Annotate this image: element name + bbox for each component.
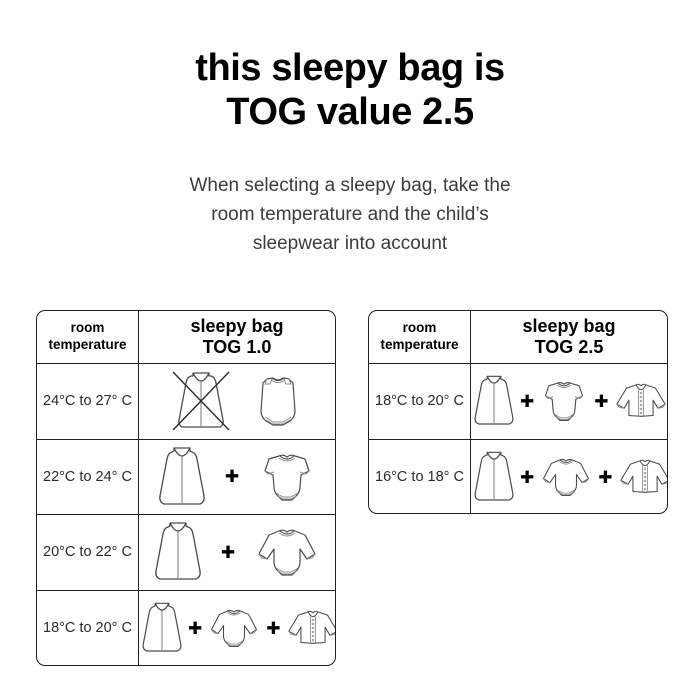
sleepy-bag-icon bbox=[139, 599, 185, 657]
sleepy-bag-icon bbox=[155, 446, 209, 508]
header-room-line-2: temperature bbox=[48, 337, 126, 354]
temperature-label: 16°C to 18° C bbox=[375, 469, 464, 485]
title-text: this sleepy bag is TOG value 2.5 bbox=[0, 46, 700, 135]
header-room-line-1: room bbox=[48, 320, 126, 337]
bodysuit-sleeveless-icon bbox=[253, 373, 303, 429]
garments-cell: ✚ ✚ bbox=[471, 364, 668, 439]
header-room-line-2: temperature bbox=[380, 337, 458, 354]
cardigan-icon bbox=[612, 376, 669, 426]
sleepy-bag-icon bbox=[471, 372, 517, 430]
garments-cell: ✚ bbox=[139, 515, 335, 590]
table-row: 24°C to 27° C bbox=[37, 364, 335, 440]
plus-icon: ✚ bbox=[266, 621, 280, 638]
header-bag-line-2: TOG 2.5 bbox=[522, 337, 615, 358]
header-cell-sleepy-bag: sleepy bag TOG 1.0 bbox=[139, 311, 335, 363]
temperature-label: 24°C to 27° C bbox=[43, 393, 132, 409]
table-row: 22°C to 24° C ✚ bbox=[37, 440, 335, 516]
sleepy-bag-icon bbox=[471, 448, 517, 506]
header-room-line-1: room bbox=[380, 320, 458, 337]
header-bag-line-1: sleepy bag bbox=[522, 316, 615, 337]
sleepy-bag-icon bbox=[151, 521, 205, 583]
temperature-cell: 16°C to 18° C bbox=[369, 440, 471, 515]
plus-icon: ✚ bbox=[598, 470, 612, 487]
table-row: 16°C to 18° C ✚ bbox=[369, 440, 667, 515]
bodysuit-long-sleeve-icon bbox=[251, 524, 323, 580]
table-header-row: room temperature sleepy bag TOG 1.0 bbox=[37, 311, 335, 364]
temperature-cell: 18°C to 20° C bbox=[369, 364, 471, 439]
plus-icon: ✚ bbox=[520, 470, 534, 487]
table-row: 18°C to 20° C ✚ bbox=[37, 591, 335, 667]
temperature-label: 20°C to 22° C bbox=[43, 544, 132, 560]
temperature-label: 18°C to 20° C bbox=[375, 393, 464, 409]
table-row: 20°C to 22° C ✚ bbox=[37, 515, 335, 591]
bodysuit-long-sleeve-icon bbox=[537, 450, 595, 504]
plus-icon: ✚ bbox=[594, 394, 608, 411]
plus-icon: ✚ bbox=[188, 621, 202, 638]
temperature-cell: 22°C to 24° C bbox=[37, 440, 139, 515]
subtitle-line-3: sleepwear into account bbox=[0, 230, 700, 259]
garments-cell: ✚ bbox=[139, 440, 335, 515]
page-title: this sleepy bag is TOG value 2.5 bbox=[0, 46, 700, 135]
sleepy-bag-crossed-out-icon bbox=[171, 370, 231, 432]
temperature-cell: 20°C to 22° C bbox=[37, 515, 139, 590]
subtitle-line-1: When selecting a sleepy bag, take the bbox=[0, 172, 700, 201]
plus-icon: ✚ bbox=[221, 545, 235, 562]
header-bag-line-1: sleepy bag bbox=[190, 316, 283, 337]
plus-icon: ✚ bbox=[520, 394, 534, 411]
page-subtitle: When selecting a sleepy bag, take the ro… bbox=[0, 172, 700, 259]
title-line-2: TOG value 2.5 bbox=[0, 90, 700, 134]
garments-cell: ✚ ✚ bbox=[471, 440, 668, 515]
bodysuit-long-sleeve-icon bbox=[205, 601, 263, 655]
header-cell-room-temperature: room temperature bbox=[37, 311, 139, 363]
title-line-1: this sleepy bag is bbox=[0, 46, 700, 90]
bodysuit-short-sleeve-icon bbox=[255, 449, 319, 505]
temperature-label: 18°C to 20° C bbox=[43, 620, 132, 636]
tog-1-0-table: room temperature sleepy bag TOG 1.0 24°C… bbox=[36, 310, 336, 666]
tog-2-5-table: room temperature sleepy bag TOG 2.5 18°C… bbox=[368, 310, 668, 514]
header-cell-room-temperature: room temperature bbox=[369, 311, 471, 363]
table-header-row: room temperature sleepy bag TOG 2.5 bbox=[369, 311, 667, 364]
tog-guide-page: this sleepy bag is TOG value 2.5 When se… bbox=[0, 0, 700, 700]
garments-cell bbox=[139, 364, 335, 439]
garments-cell: ✚ ✚ bbox=[139, 591, 336, 667]
subtitle-line-2: room temperature and the child’s bbox=[0, 201, 700, 230]
table-row: 18°C to 20° C ✚ bbox=[369, 364, 667, 440]
cardigan-icon bbox=[284, 603, 337, 653]
header-cell-sleepy-bag: sleepy bag TOG 2.5 bbox=[471, 311, 667, 363]
header-bag-line-2: TOG 1.0 bbox=[190, 337, 283, 358]
temperature-cell: 18°C to 20° C bbox=[37, 591, 139, 667]
cardigan-icon bbox=[616, 452, 669, 502]
temperature-label: 22°C to 24° C bbox=[43, 469, 132, 485]
plus-icon: ✚ bbox=[225, 469, 239, 486]
temperature-cell: 24°C to 27° C bbox=[37, 364, 139, 439]
bodysuit-short-sleeve-icon bbox=[537, 375, 591, 427]
